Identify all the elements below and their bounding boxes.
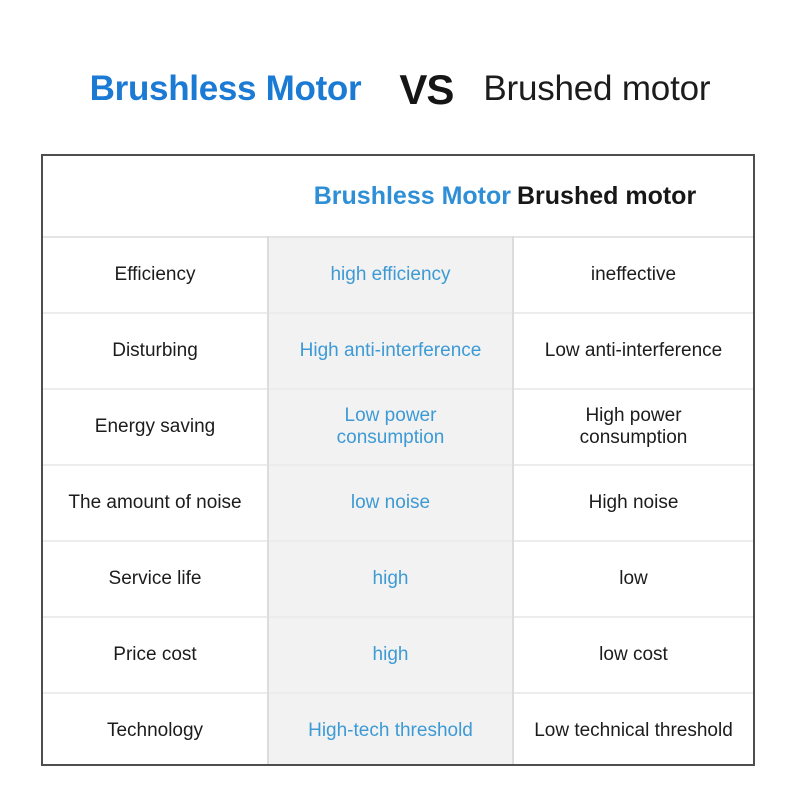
cell-text: ineffective: [520, 264, 747, 286]
cell-feature-service-life: Service life: [43, 541, 268, 617]
headline-brushless-label: Brushless Motor: [90, 69, 362, 109]
cell-text: high: [275, 568, 506, 590]
cell-text: Price cost: [49, 644, 261, 666]
table-row: Disturbing High anti-interference Low an…: [43, 313, 753, 389]
cell-text: Low technical threshold: [520, 720, 747, 742]
cell-text: Technology: [49, 720, 261, 742]
cell-text: Low anti-interference: [520, 340, 747, 362]
cell-text: high efficiency: [275, 264, 506, 286]
headline-banner: Brushless Motor VS Brushed motor: [0, 58, 800, 120]
cell-brushless-service-life: high: [268, 541, 513, 617]
cell-text: High-tech threshold: [275, 720, 506, 742]
cell-brushless-price-cost: high: [268, 617, 513, 693]
cell-brushed-energy-saving: High power consumption: [513, 389, 753, 465]
cell-text: Disturbing: [49, 340, 261, 362]
cell-feature-price-cost: Price cost: [43, 617, 268, 693]
cell-text: High noise: [520, 492, 747, 514]
cell-text: low noise: [275, 492, 506, 514]
table-row: Price cost high low cost: [43, 617, 753, 693]
cell-text: Energy saving: [49, 416, 261, 438]
cell-brushed-service-life: low: [513, 541, 753, 617]
cell-text: High anti-interference: [275, 340, 506, 362]
column-header-brushed-motor: Brushed motor: [513, 156, 753, 237]
cell-text: The amount of noise: [49, 492, 261, 514]
cell-brushed-technology: Low technical threshold: [513, 693, 753, 766]
comparison-infographic: Brushless Motor VS Brushed motor Brushle…: [0, 0, 800, 800]
cell-text: high: [275, 644, 506, 666]
cell-text: low: [520, 568, 747, 590]
comparison-table: Brushless Motor Brushed motor Efficiency…: [43, 156, 753, 766]
cell-text: Efficiency: [49, 264, 261, 286]
cell-text: Service life: [49, 568, 261, 590]
column-header-feature: [43, 156, 268, 237]
cell-brushless-efficiency: high efficiency: [268, 237, 513, 313]
table-row: Energy saving Low power consumption High…: [43, 389, 753, 465]
table-row: The amount of noise low noise High noise: [43, 465, 753, 541]
cell-feature-disturbing: Disturbing: [43, 313, 268, 389]
cell-feature-technology: Technology: [43, 693, 268, 766]
headline-brushed-label: Brushed motor: [483, 69, 710, 109]
cell-brushed-amount-of-noise: High noise: [513, 465, 753, 541]
table-header: Brushless Motor Brushed motor: [43, 156, 753, 237]
comparison-table-container: Brushless Motor Brushed motor Efficiency…: [41, 154, 755, 766]
cell-feature-amount-of-noise: The amount of noise: [43, 465, 268, 541]
cell-brushless-technology: High-tech threshold: [268, 693, 513, 766]
table-row: Service life high low: [43, 541, 753, 617]
cell-brushed-price-cost: low cost: [513, 617, 753, 693]
table-row: Technology High-tech threshold Low techn…: [43, 693, 753, 766]
headline-vs-label: VS: [399, 66, 453, 114]
cell-text: High power consumption: [520, 405, 747, 450]
cell-brushed-efficiency: ineffective: [513, 237, 753, 313]
cell-brushed-disturbing: Low anti-interference: [513, 313, 753, 389]
cell-feature-energy-saving: Energy saving: [43, 389, 268, 465]
table-body: Efficiency high efficiency ineffective D…: [43, 237, 753, 766]
cell-feature-efficiency: Efficiency: [43, 237, 268, 313]
cell-brushless-amount-of-noise: low noise: [268, 465, 513, 541]
cell-text: low cost: [520, 644, 747, 666]
column-header-brushless-motor: Brushless Motor: [268, 156, 513, 237]
cell-brushless-energy-saving: Low power consumption: [268, 389, 513, 465]
table-header-row: Brushless Motor Brushed motor: [43, 156, 753, 237]
cell-brushless-disturbing: High anti-interference: [268, 313, 513, 389]
table-row: Efficiency high efficiency ineffective: [43, 237, 753, 313]
cell-text: Low power consumption: [275, 405, 506, 450]
